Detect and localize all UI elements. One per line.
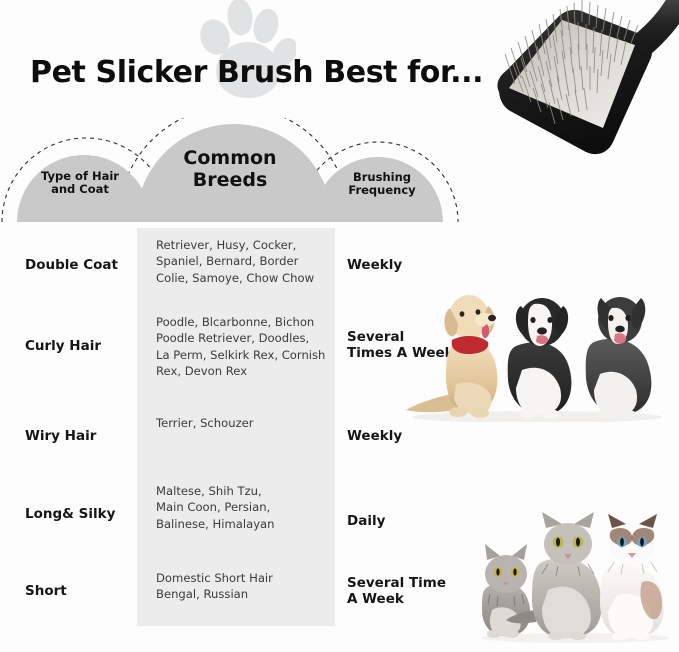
pet-slicker-brush-infographic: Pet Slicker Brush Best for... bbox=[0, 0, 679, 652]
arch-label-common-breeds: Common Breeds bbox=[150, 148, 310, 192]
frequency-line: Weekly bbox=[347, 428, 463, 444]
frequency-line: A Week bbox=[347, 591, 463, 607]
cell-common-breeds: Domestic Short Hair Bengal, Russian bbox=[156, 570, 328, 603]
cat-silver-tabby bbox=[482, 544, 530, 638]
frequency-line: Weekly bbox=[347, 257, 463, 273]
arch-label-type-of-hair: Type of Hair and Coat bbox=[16, 170, 144, 196]
cell-hair-type: Long& Silky bbox=[25, 506, 137, 522]
cell-brushing-frequency: Weekly bbox=[347, 257, 463, 273]
dog-husky bbox=[586, 297, 652, 420]
page-title: Pet Slicker Brush Best for... bbox=[30, 55, 460, 90]
arch-label-brushing-frequency: Brushing Frequency bbox=[322, 171, 442, 197]
breeds-line: Poodle Retriever, Doodles, bbox=[156, 330, 328, 346]
breeds-line: Poodle, Blcarbonne, Bichon bbox=[156, 314, 328, 330]
cell-hair-type: Short bbox=[25, 583, 137, 599]
arch-label-line1: Common bbox=[150, 148, 310, 170]
cell-hair-type: Double Coat bbox=[25, 257, 137, 273]
frequency-line: Daily bbox=[347, 513, 463, 529]
dog-border-collie bbox=[508, 298, 572, 419]
dog-golden-retriever bbox=[406, 295, 497, 418]
breeds-line: Spaniel, Bernard, Border bbox=[156, 253, 328, 269]
breeds-line: La Perm, Selkirk Rex, Cornish bbox=[156, 347, 328, 363]
cell-common-breeds: Maltese, Shih Tzu, Main Coon, Persian, B… bbox=[156, 483, 328, 532]
breeds-line: Domestic Short Hair bbox=[156, 570, 328, 586]
breeds-line: Rex, Devon Rex bbox=[156, 363, 328, 379]
cell-hair-type: Curly Hair bbox=[25, 338, 137, 354]
cell-brushing-frequency: Several Time A Week bbox=[347, 575, 463, 608]
cell-common-breeds: Retriever, Husy, Cocker, Spaniel, Bernar… bbox=[156, 237, 328, 286]
breeds-line: Colie, Samoye, Chow Chow bbox=[156, 270, 328, 286]
cell-brushing-frequency: Weekly bbox=[347, 428, 463, 444]
cell-common-breeds: Terrier, Schouzer bbox=[156, 415, 328, 431]
breeds-line: Balinese, Himalayan bbox=[156, 516, 328, 532]
tongue bbox=[614, 333, 626, 344]
breeds-line: Maltese, Shih Tzu, bbox=[156, 483, 328, 499]
cell-brushing-frequency: Daily bbox=[347, 513, 463, 529]
breeds-line: Main Coon, Persian, bbox=[156, 499, 328, 515]
cell-common-breeds: Poodle, Blcarbonne, Bichon Poodle Retrie… bbox=[156, 314, 328, 380]
cat-ragdoll bbox=[600, 514, 664, 640]
three-dogs-photo bbox=[398, 284, 676, 422]
breeds-line: Terrier, Schouzer bbox=[156, 415, 328, 431]
breeds-line: Retriever, Husy, Cocker, bbox=[156, 237, 328, 253]
slicker-brush-photo bbox=[455, 0, 679, 182]
frequency-line: Several Time bbox=[347, 575, 463, 591]
tongue bbox=[536, 335, 548, 344]
breeds-line: Bengal, Russian bbox=[156, 586, 328, 602]
cell-hair-type: Wiry Hair bbox=[25, 428, 137, 444]
three-cats-photo bbox=[472, 512, 678, 644]
arch-label-line2: and Coat bbox=[16, 183, 144, 196]
arch-label-line2: Frequency bbox=[322, 184, 442, 197]
arch-label-line2: Breeds bbox=[150, 170, 310, 192]
